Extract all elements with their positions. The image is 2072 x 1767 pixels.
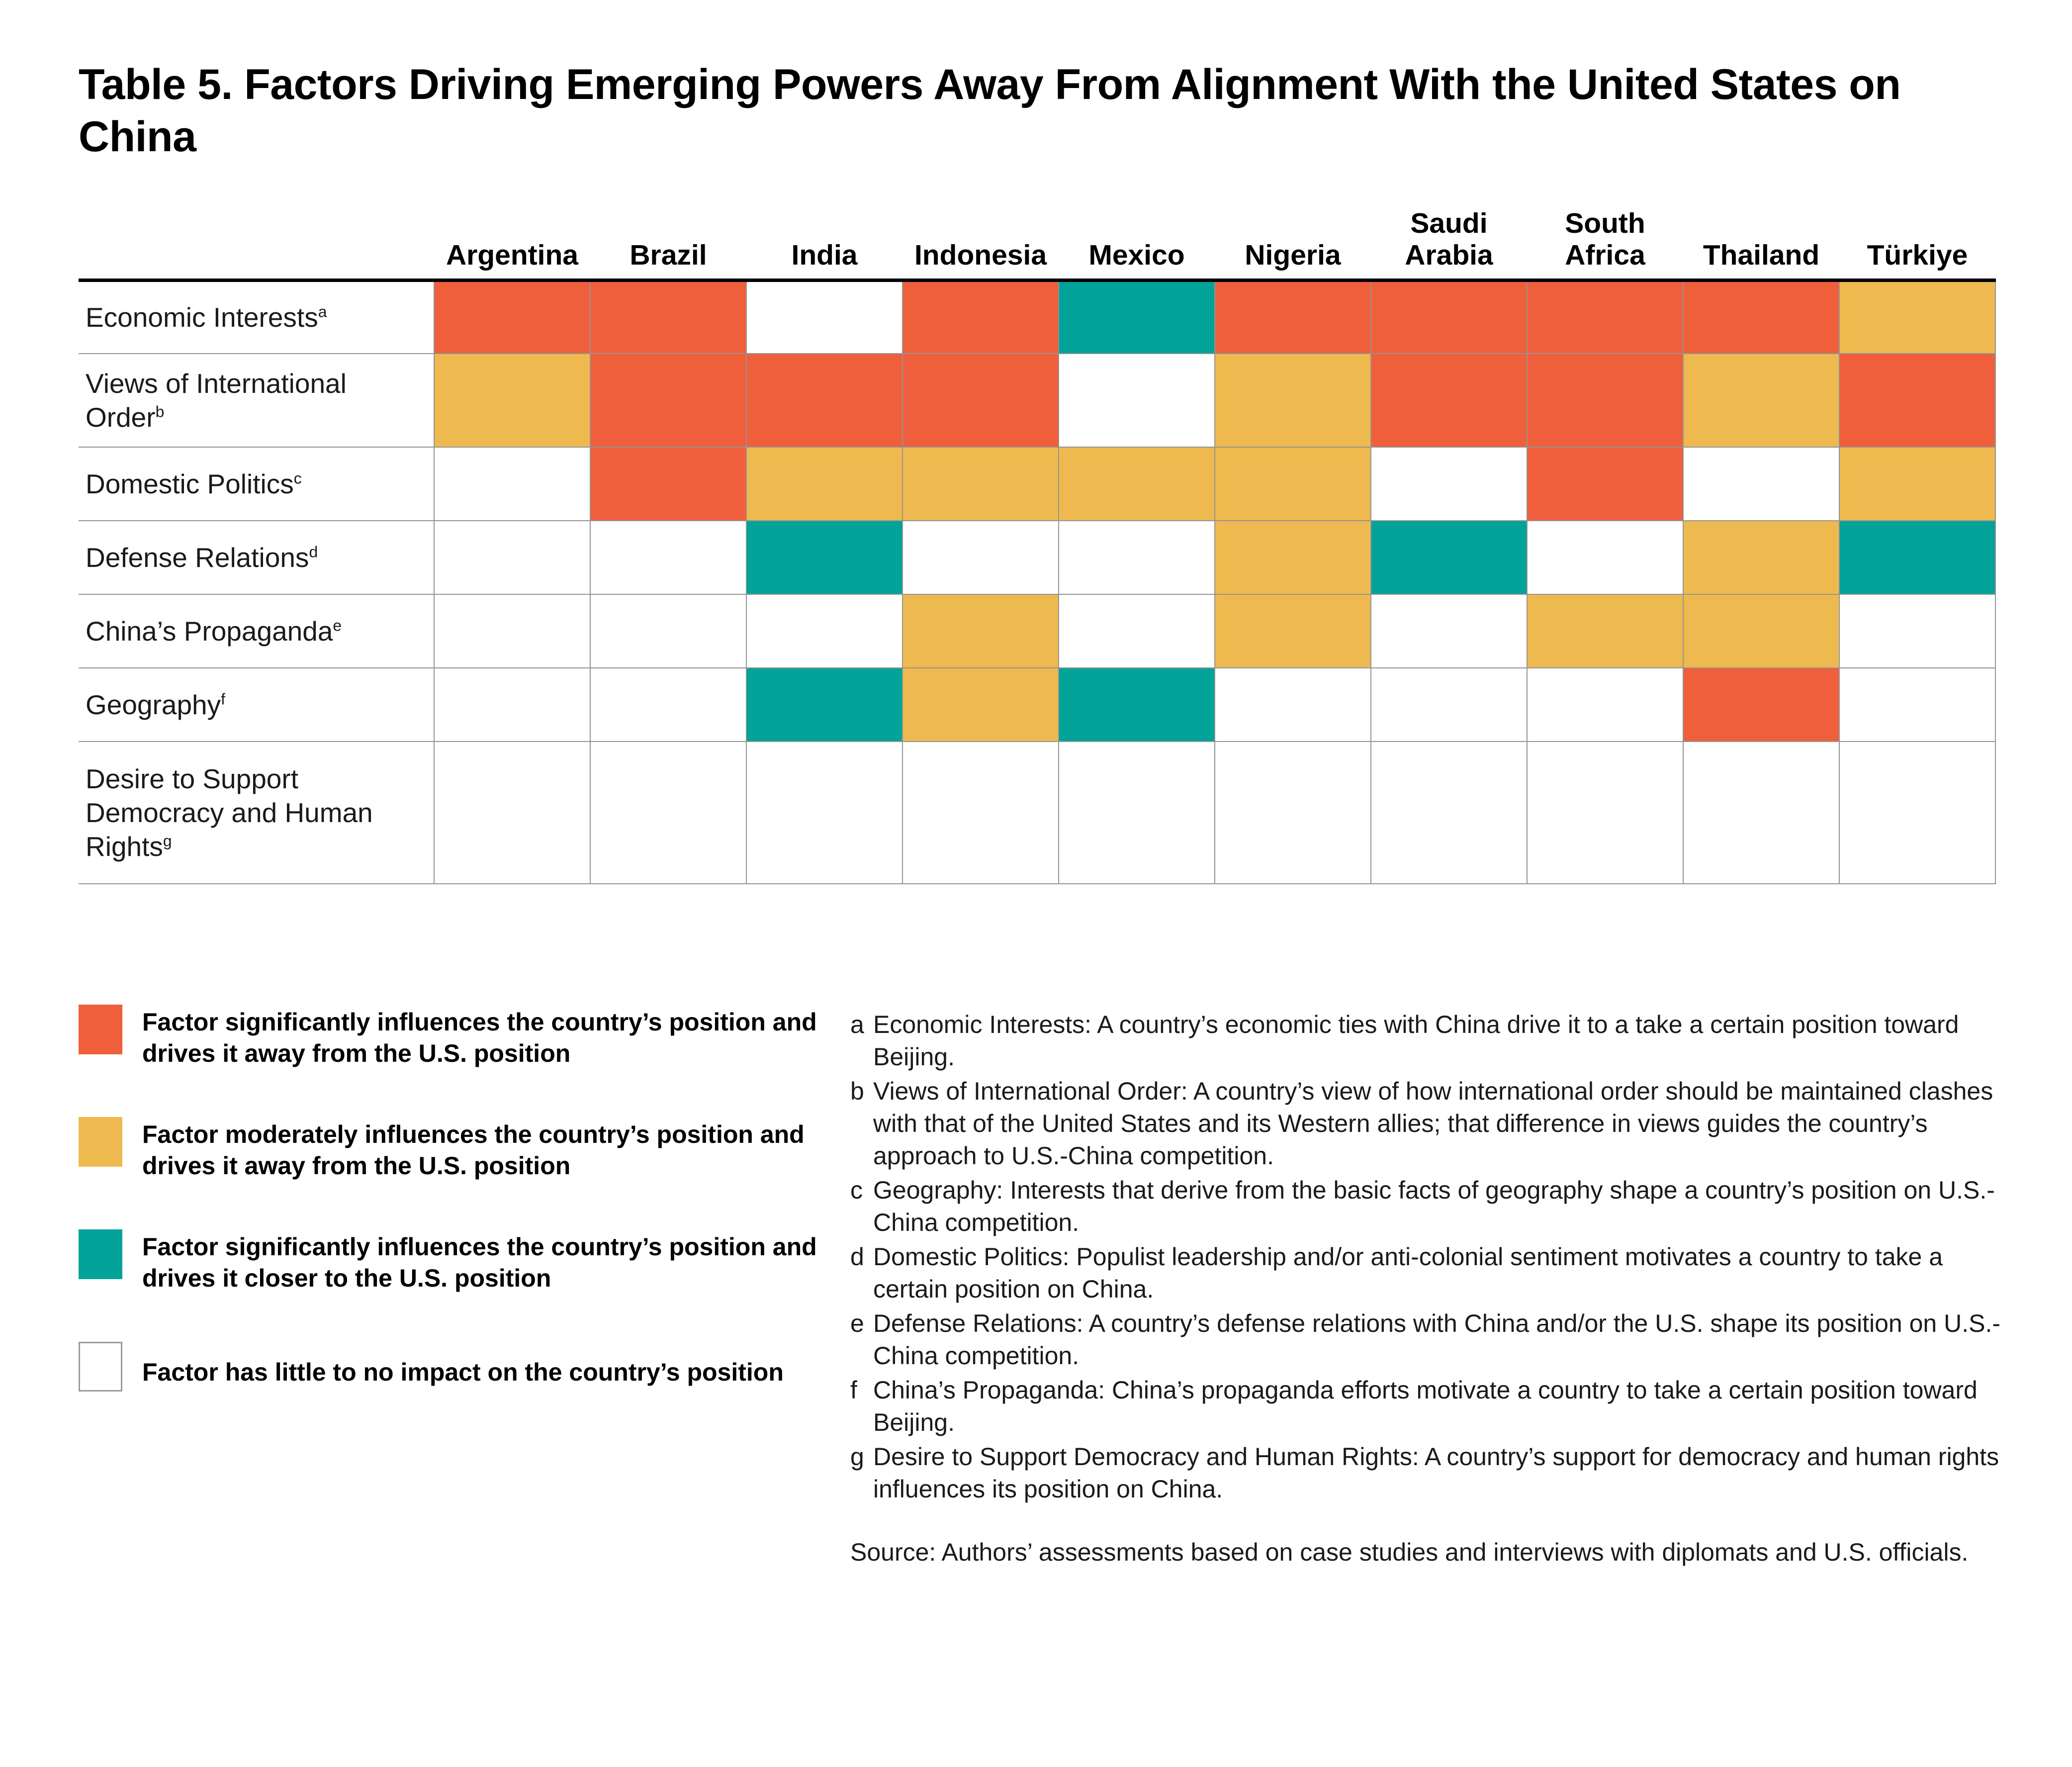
table-row: Views of International Orderb	[79, 354, 1995, 447]
footnote-e: eDefense Relations: A country’s defense …	[850, 1307, 2004, 1372]
legend-item: Factor significantly influences the coun…	[79, 1229, 839, 1294]
matrix-cell	[746, 594, 902, 668]
matrix-cell	[1059, 447, 1215, 521]
footnote-d: dDomestic Politics: Populist leadership …	[850, 1241, 2004, 1305]
matrix-cell	[902, 354, 1059, 447]
footnote-text: Economic Interests: A country’s economic…	[873, 1009, 2004, 1073]
matrix-cell	[1059, 521, 1215, 594]
matrix-cell	[1839, 668, 1995, 742]
footnote-key: f	[850, 1374, 873, 1406]
legend-item: Factor moderately influences the country…	[79, 1117, 839, 1182]
matrix-cell	[590, 447, 746, 521]
table-body: Economic InterestsaViews of Internationa…	[79, 280, 1995, 884]
matrix-cell	[1683, 280, 1839, 354]
row-label-views-of-international-order: Views of International Orderb	[79, 354, 434, 447]
matrix-cell	[1371, 280, 1527, 354]
footnote-c: cGeography: Interests that derive from t…	[850, 1174, 2004, 1239]
row-label-geography: Geographyf	[79, 668, 434, 742]
legend-swatch-none	[79, 1342, 122, 1392]
legend-item: Factor significantly influences the coun…	[79, 1005, 839, 1069]
matrix-cell	[434, 742, 590, 884]
legend-label: Factor significantly influences the coun…	[142, 1229, 839, 1294]
matrix-cell	[590, 521, 746, 594]
matrix-cell	[434, 447, 590, 521]
source-note: Source: Authors’ assessments based on ca…	[850, 1536, 2004, 1569]
column-header-mexico: Mexico	[1059, 208, 1215, 280]
matrix-cell	[1371, 354, 1527, 447]
matrix-cell	[1059, 742, 1215, 884]
table-row: Economic Interestsa	[79, 280, 1995, 354]
table-row: Domestic Politicsc	[79, 447, 1995, 521]
footnote-text: China’s Propaganda: China’s propaganda e…	[873, 1374, 2004, 1439]
matrix-cell	[1839, 742, 1995, 884]
matrix-cell	[1215, 668, 1371, 742]
matrix-cell	[590, 354, 746, 447]
legend-swatch-yellow	[79, 1117, 122, 1167]
matrix-cell	[1215, 594, 1371, 668]
factors-matrix-table: ArgentinaBrazilIndiaIndonesiaMexicoNiger…	[79, 208, 1996, 884]
matrix-cell	[1683, 668, 1839, 742]
column-header-argentina: Argentina	[434, 208, 590, 280]
matrix-cell	[902, 447, 1059, 521]
matrix-cell	[1839, 594, 1995, 668]
legend-label: Factor has little to no impact on the co…	[142, 1342, 784, 1388]
matrix-cell	[590, 594, 746, 668]
matrix-cell	[434, 668, 590, 742]
matrix-cell	[1215, 521, 1371, 594]
row-label-economic-interests: Economic Interestsa	[79, 280, 434, 354]
matrix-cell	[746, 668, 902, 742]
matrix-cell	[1371, 447, 1527, 521]
column-header-indonesia: Indonesia	[902, 208, 1059, 280]
legend-label: Factor moderately influences the country…	[142, 1117, 839, 1182]
footnote-text: Views of International Order: A country’…	[873, 1075, 2004, 1172]
footnote-key: g	[850, 1441, 873, 1473]
table-row: Defense Relationsd	[79, 521, 1995, 594]
matrix-cell	[1527, 742, 1683, 884]
footnote-text: Domestic Politics: Populist leadership a…	[873, 1241, 2004, 1305]
table-page: Table 5. Factors Driving Emerging Powers…	[0, 0, 2072, 1767]
matrix-cell	[746, 354, 902, 447]
matrix-cell	[902, 742, 1059, 884]
matrix-cell	[746, 521, 902, 594]
matrix-cell	[1527, 280, 1683, 354]
table-header-row: ArgentinaBrazilIndiaIndonesiaMexicoNiger…	[79, 208, 1995, 280]
matrix-cell	[434, 354, 590, 447]
matrix-cell	[1059, 594, 1215, 668]
table-corner-cell	[79, 208, 434, 280]
matrix-cell	[1371, 594, 1527, 668]
row-label-chinas-propaganda: China’s Propagandae	[79, 594, 434, 668]
table-row: Desire to Support Democracy and Human Ri…	[79, 742, 1995, 884]
matrix-cell	[1215, 280, 1371, 354]
matrix-cell	[746, 280, 902, 354]
legend-swatch-teal	[79, 1229, 122, 1279]
matrix-cell	[1839, 280, 1995, 354]
footnote-key: c	[850, 1174, 873, 1207]
table-row: Geographyf	[79, 668, 1995, 742]
matrix-cell	[746, 447, 902, 521]
matrix-cell	[590, 668, 746, 742]
footnote-key: a	[850, 1009, 873, 1041]
matrix-cell	[1527, 521, 1683, 594]
matrix-cell	[902, 280, 1059, 354]
footnote-g: gDesire to Support Democracy and Human R…	[850, 1441, 2004, 1505]
footnote-text: Geography: Interests that derive from th…	[873, 1174, 2004, 1239]
column-header-south-africa: SouthAfrica	[1527, 208, 1683, 280]
matrix-cell	[1215, 742, 1371, 884]
matrix-cell	[1527, 354, 1683, 447]
footnote-a: aEconomic Interests: A country’s economi…	[850, 1009, 2004, 1073]
matrix-cell	[1683, 742, 1839, 884]
matrix-cell	[1527, 447, 1683, 521]
matrix-cell	[434, 521, 590, 594]
matrix-cell	[902, 594, 1059, 668]
column-header-brazil: Brazil	[590, 208, 746, 280]
legend-item: Factor has little to no impact on the co…	[79, 1342, 839, 1392]
table-row: China’s Propagandae	[79, 594, 1995, 668]
column-header-nigeria: Nigeria	[1215, 208, 1371, 280]
matrix-cell	[434, 280, 590, 354]
row-label-defense-relations: Defense Relationsd	[79, 521, 434, 594]
matrix-cell	[1839, 521, 1995, 594]
matrix-cell	[590, 742, 746, 884]
legend-label: Factor significantly influences the coun…	[142, 1005, 839, 1069]
matrix-cell	[1059, 668, 1215, 742]
footnote-f: fChina’s Propaganda: China’s propaganda …	[850, 1374, 2004, 1439]
legend: Factor significantly influences the coun…	[79, 1005, 839, 1392]
matrix-cell	[1059, 280, 1215, 354]
matrix-cell	[1683, 521, 1839, 594]
matrix-cell	[1683, 354, 1839, 447]
matrix-cell	[902, 668, 1059, 742]
matrix-cell	[1527, 594, 1683, 668]
matrix-cell	[1371, 742, 1527, 884]
legend-swatch-red	[79, 1005, 122, 1054]
matrix-cell	[1215, 447, 1371, 521]
row-label-domestic-politics: Domestic Politicsc	[79, 447, 434, 521]
column-header-türkiye: Türkiye	[1839, 208, 1995, 280]
page-title: Table 5. Factors Driving Emerging Powers…	[79, 59, 1948, 163]
footnote-key: b	[850, 1075, 873, 1108]
footnote-key: d	[850, 1241, 873, 1273]
footnote-b: bViews of International Order: A country…	[850, 1075, 2004, 1172]
footnote-text: Desire to Support Democracy and Human Ri…	[873, 1441, 2004, 1505]
matrix-cell	[1683, 447, 1839, 521]
column-header-saudi-arabia: SaudiArabia	[1371, 208, 1527, 280]
matrix-cell	[902, 521, 1059, 594]
footnote-text: Defense Relations: A country’s defense r…	[873, 1307, 2004, 1372]
matrix-cell	[1839, 447, 1995, 521]
matrix-cell	[1527, 668, 1683, 742]
row-label-desire-to-support-democracy-and-human-rights: Desire to Support Democracy and Human Ri…	[79, 742, 434, 884]
matrix-cell	[1683, 594, 1839, 668]
matrix-cell	[434, 594, 590, 668]
table-header: ArgentinaBrazilIndiaIndonesiaMexicoNiger…	[79, 208, 1995, 280]
matrix-cell	[1371, 668, 1527, 742]
matrix-cell	[1215, 354, 1371, 447]
matrix-cell	[746, 742, 902, 884]
column-header-india: India	[746, 208, 902, 280]
factors-matrix-container: ArgentinaBrazilIndiaIndonesiaMexicoNiger…	[79, 208, 1995, 884]
footnote-key: e	[850, 1307, 873, 1340]
matrix-cell	[590, 280, 746, 354]
column-header-thailand: Thailand	[1683, 208, 1839, 280]
matrix-cell	[1059, 354, 1215, 447]
matrix-cell	[1371, 521, 1527, 594]
matrix-cell	[1839, 354, 1995, 447]
footnotes: aEconomic Interests: A country’s economi…	[850, 1009, 2004, 1569]
